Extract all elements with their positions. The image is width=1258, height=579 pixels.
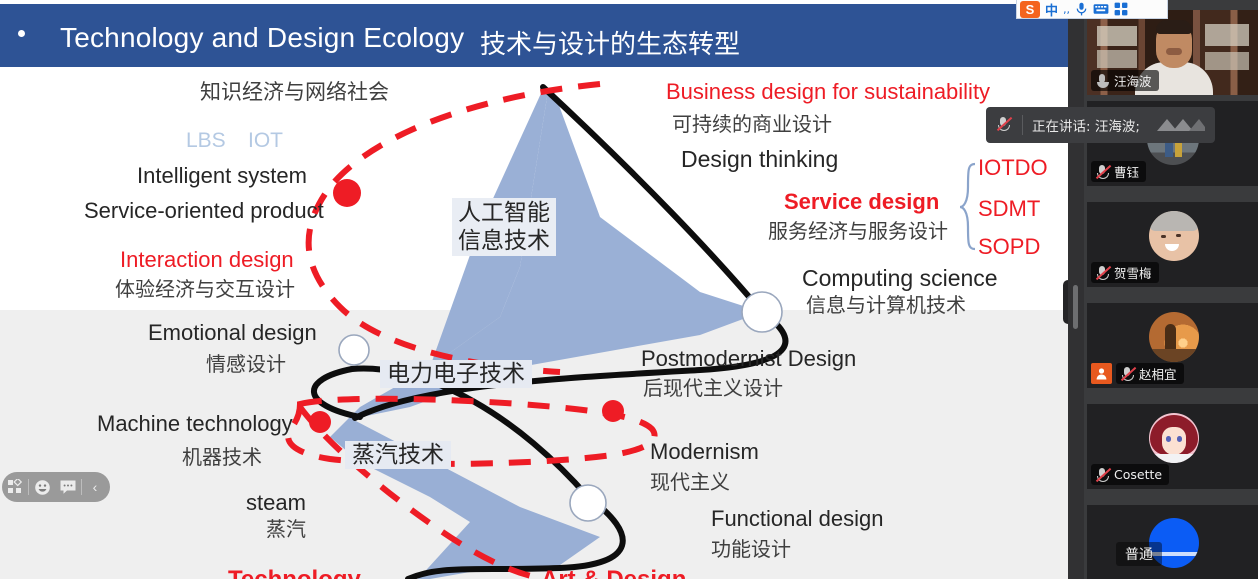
meeting-window: Technology and Design Ecology 技术与设计的生态转型 [0,0,1258,579]
label-emotional-design: Emotional design [148,321,317,344]
mic-icon [1095,73,1110,89]
mic-muted-icon [996,116,1013,134]
label-machine-technology-cn: 机器技术 [182,447,262,468]
grid-menu-icon[interactable] [1114,2,1128,16]
shared-screen-slide: Technology and Design Ecology 技术与设计的生态转型 [0,0,1068,579]
label-code-sopd: SOPD [978,235,1040,258]
toast-divider [1022,115,1023,135]
label-service-design: Service design [784,190,939,213]
label-steam-cn: 蒸汽 [266,519,306,540]
participant-name-badge: 普通 [1116,542,1162,566]
label-interaction-design-cn: 体验经济与交互设计 [115,279,295,300]
label-business-design: Business design for sustainability [666,80,990,103]
punctuation-icon[interactable]: ‚, [1063,3,1070,16]
label-axis-art-design: Art & Design [541,567,686,579]
mic-muted-icon [1095,265,1110,281]
participant-tile[interactable]: 普通 [1087,505,1258,579]
participant-tile[interactable]: 贺雪梅 [1087,202,1258,287]
mic-muted-icon [1095,467,1110,483]
participant-tile[interactable]: Cosette [1087,404,1258,489]
speaking-text: 正在讲话: 汪海波; [1032,115,1140,135]
participant-name: Cosette [1114,467,1162,482]
host-badge-icon [1091,363,1112,384]
label-functional-design-cn: 功能设计 [711,539,791,560]
label-postmodernist-design: Postmodernist Design [641,347,856,370]
chevron-left-icon[interactable]: ‹ [82,472,108,502]
participant-name-badge: 贺雪梅 [1091,262,1159,283]
label-knowledge-economy: 知识经济与网络社会 [200,81,389,103]
label-modernism: Modernism [650,440,759,463]
label-code-iotdo: IOTDO [978,156,1048,179]
label-service-oriented-product: Service-oriented product [84,199,324,222]
keyboard-icon[interactable] [1093,3,1109,15]
participant-name: 曹钰 [1114,162,1139,181]
label-interaction-design: Interaction design [120,248,294,271]
mic-muted-icon [1095,164,1110,180]
participant-name: 赵相宜 [1139,364,1177,383]
participant-name-badge: 汪海波 [1091,70,1159,91]
scrollbar-thumb[interactable] [1073,285,1078,329]
label-code-sdmt: SDMT [978,197,1040,220]
label-service-design-cn: 服务经济与服务设计 [768,221,948,242]
participant-name: 普通 [1125,544,1153,564]
label-modernism-cn: 现代主义 [650,472,730,493]
participant-tiles: 汪海波 曹钰 [1084,0,1258,579]
label-design-thinking: Design thinking [681,147,838,171]
label-steam: steam [246,491,306,514]
ime-mode-toggle[interactable]: 中 [1045,0,1058,19]
label-intelligent-system: Intelligent system [137,164,307,187]
mic-muted-icon [1120,366,1135,382]
label-iot: IOT [248,130,283,152]
label-power-electronics-cn: 电力电子技术 [380,360,532,388]
slide-canvas: 知识经济与网络社会 LBS IOT Intelligent system Ser… [0,67,1068,579]
avatar [1149,312,1199,362]
participant-name: 贺雪梅 [1114,263,1152,282]
emoji-icon[interactable] [29,472,55,502]
slide-title-cn: 技术与设计的生态转型 [480,24,740,61]
label-lbs: LBS [186,130,226,152]
chat-icon[interactable] [55,472,81,502]
label-steam-technology-cn: 蒸汽技术 [345,441,451,469]
annotation-toolbar[interactable]: ‹ [2,472,110,502]
speaking-toast: 正在讲话: 汪海波; [986,107,1215,143]
label-computing-science-cn: 信息与计算机技术 [806,295,966,316]
slide-title-bar: Technology and Design Ecology 技术与设计的生态转型 [0,4,1068,67]
label-axis-technology: Technology [228,567,361,579]
label-business-design-cn: 可持续的商业设计 [672,114,832,135]
shapes-icon[interactable] [2,472,28,502]
avatar [1149,413,1199,463]
label-ai-it-cn: 人工智能 信息技术 [452,198,556,256]
label-emotional-design-cn: 情感设计 [206,354,286,375]
wave-icon [1153,115,1205,135]
label-functional-design: Functional design [711,507,883,530]
label-machine-technology: Machine technology [97,412,293,435]
slide-title-en: Technology and Design Ecology [60,22,464,54]
sogou-logo-icon[interactable]: S [1020,1,1040,18]
participant-scrollbar[interactable] [1068,0,1084,579]
label-postmodernist-design-cn: 后现代主义设计 [643,378,783,399]
participant-name: 汪海波 [1114,71,1152,90]
participant-tile[interactable]: 赵相宜 [1087,303,1258,388]
participant-tile[interactable]: 汪海波 [1087,10,1258,95]
avatar [1149,211,1199,261]
participant-name-badge: Cosette [1091,464,1169,485]
ime-toolbar[interactable]: S 中 ‚, [1016,0,1168,19]
label-computing-science: Computing science [802,266,998,290]
participant-name-badge: 曹钰 [1091,161,1146,182]
bullet-icon [18,30,25,37]
participant-name-badge: 赵相宜 [1116,363,1184,384]
microphone-icon[interactable] [1075,2,1088,16]
